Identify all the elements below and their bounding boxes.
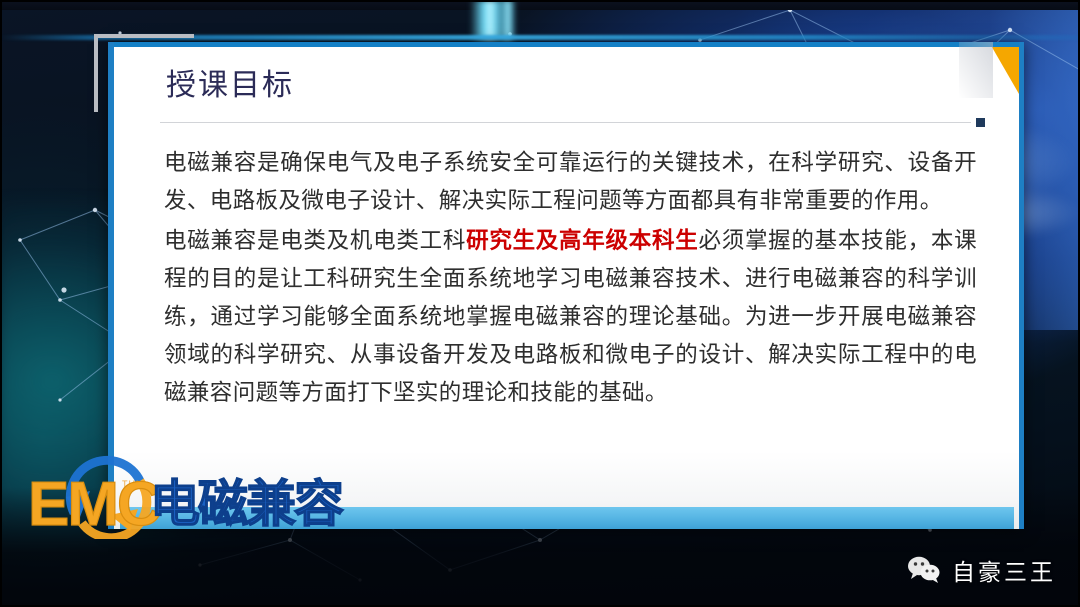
paragraph-2-run-2: 必须掌握的基本技能，本课程的目的是让工科研究生全面系统地学习电磁兼容技术、进行电… [164,228,977,405]
emc-logo: THU EMC 电磁兼容 [22,451,352,539]
emc-logo-chinese: 电磁兼容 [150,475,344,533]
emc-logo-acronym: EMC [28,470,161,539]
wechat-watermark: 自豪三王 [907,553,1056,587]
paragraph-2-run-0: 电磁兼容是电类及机电类工科 [164,228,466,253]
watermark-label: 自豪三王 [952,553,1056,587]
highlighted-phrase: 研究生及高年级本科生 [466,228,698,253]
title-divider [160,118,985,128]
wechat-icon [907,556,941,584]
paragraph-2: 电磁兼容是电类及机电类工科研究生及高年级本科生必须掌握的基本技能，本课程的目的是… [164,222,977,412]
divider-line [160,122,971,123]
divider-end-square [976,118,985,127]
body-text-block: 电磁兼容是确保电气及电子系统安全可靠运行的关键技术，在科学研究、设备开发、电路板… [160,144,985,412]
decorative-corner-bracket-top [94,34,194,38]
background-top-bar [0,0,1080,10]
presentation-slide: 授课目标 电磁兼容是确保电气及电子系统安全可靠运行的关键技术，在科学研究、设备开… [0,0,1080,607]
paragraph-1: 电磁兼容是确保电气及电子系统安全可靠运行的关键技术，在科学研究、设备开发、电路板… [164,144,977,220]
page-title: 授课目标 [160,62,985,104]
paragraph-1-run-0: 电磁兼容是确保电气及电子系统安全可靠运行的关键技术，在科学研究、设备开发、电路板… [164,150,977,213]
decorative-corner-bracket [94,34,130,112]
